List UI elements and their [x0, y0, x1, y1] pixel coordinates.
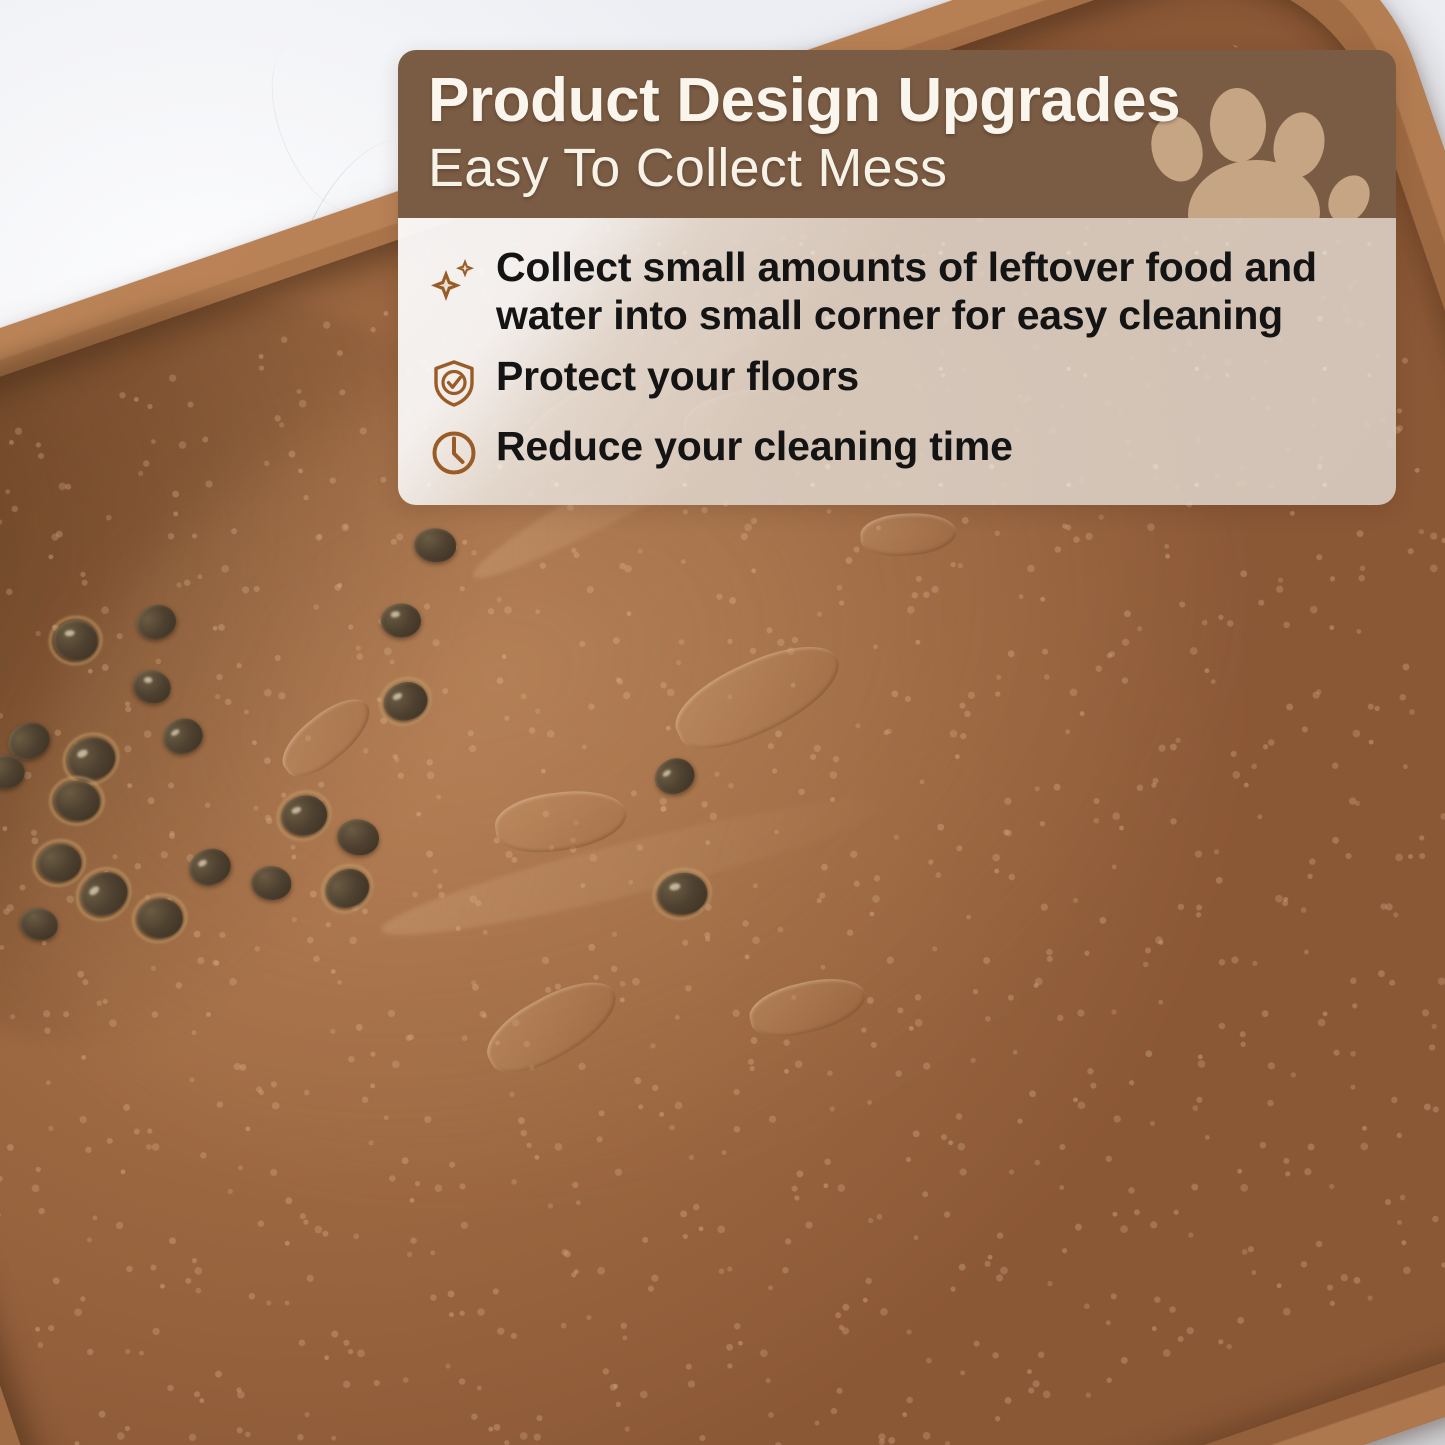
kibble-piece: [133, 894, 186, 943]
card-body: Collect small amounts of leftover food a…: [398, 218, 1396, 505]
feature-bullet-collect: Collect small amounts of leftover food a…: [428, 244, 1370, 339]
clock-icon: [428, 427, 480, 479]
feature-bullet-protect: Protect your floors: [428, 353, 1370, 409]
feature-bullet-label: Protect your floors: [496, 353, 859, 401]
feature-bullet-label: Collect small amounts of leftover food a…: [496, 244, 1370, 339]
sparkle-icon: [428, 254, 480, 306]
feature-bullet-reduce-time: Reduce your cleaning time: [428, 423, 1370, 479]
feature-info-card: Product Design Upgrades Easy To Collect …: [398, 50, 1396, 505]
kibble-piece: [33, 839, 85, 887]
shield-check-icon: [428, 357, 480, 409]
card-subtitle: Easy To Collect Mess: [428, 137, 1366, 200]
feature-bullet-label: Reduce your cleaning time: [496, 423, 1013, 471]
product-marketing-image: Simtool Product Design Upgrades Easy To …: [0, 0, 1445, 1445]
kibble-piece: [51, 618, 100, 663]
kibble-piece: [53, 780, 100, 822]
card-header: Product Design Upgrades Easy To Collect …: [398, 50, 1396, 218]
kibble-piece: [337, 819, 380, 856]
card-title: Product Design Upgrades: [428, 66, 1366, 135]
